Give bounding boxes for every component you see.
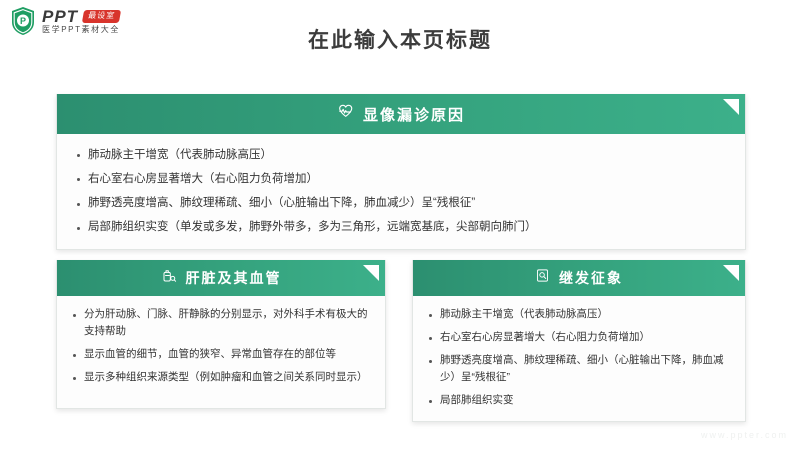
card-liver-and-vessels: 肝脏及其血管 分为肝动脉、门脉、肝静脉的分别显示，对外科手术有极大的支持帮助 显… xyxy=(56,260,386,409)
card-body: 肺动脉主干增宽（代表肺动脉高压） 右心室右心房显著增大（右心阻力负荷增加） 肺野… xyxy=(413,296,745,421)
list-item: 显示血管的细节，血管的狭窄、异常血管存在的部位等 xyxy=(71,346,373,363)
card-header: 继发征象 xyxy=(413,260,745,296)
list-item: 肺动脉主干增宽（代表肺动脉高压） xyxy=(75,146,729,165)
card-imaging-missed-diagnosis: 显像漏诊原因 肺动脉主干增宽（代表肺动脉高压） 右心室右心房显著增大（右心阻力负… xyxy=(56,94,746,250)
watermark: www.ppter.com xyxy=(701,430,788,440)
bullet-list: 分为肝动脉、门脉、肝静脉的分别显示，对外科手术有极大的支持帮助 显示血管的细节，… xyxy=(71,306,373,386)
card-title: 继发征象 xyxy=(559,268,623,288)
heart-pulse-icon xyxy=(337,103,354,125)
list-item: 肺动脉主干增宽（代表肺动脉高压） xyxy=(427,306,733,323)
page-title: 在此输入本页标题 xyxy=(0,24,800,54)
card-secondary-signs: 继发征象 肺动脉主干增宽（代表肺动脉高压） 右心室右心房显著增大（右心阻力负荷增… xyxy=(412,260,746,422)
card-title: 肝脏及其血管 xyxy=(186,268,282,288)
list-item: 肺野透亮度增高、肺纹理稀疏、细小（心脏输出下降，肺血减少）呈“残根征” xyxy=(75,194,729,213)
list-item: 右心室右心房显著增大（右心阻力负荷增加） xyxy=(75,170,729,189)
corner-fold-icon xyxy=(723,99,739,115)
list-item: 显示多种组织来源类型（例如肿瘤和血管之间关系同时显示） xyxy=(71,369,373,386)
corner-fold-icon xyxy=(723,265,739,281)
bullet-list: 肺动脉主干增宽（代表肺动脉高压） 右心室右心房显著增大（右心阻力负荷增加） 肺野… xyxy=(427,306,733,409)
list-item: 肺野透亮度增高、肺纹理稀疏、细小（心脏输出下降，肺血减少）呈“残根征” xyxy=(427,352,733,386)
list-item: 局部肺组织实变 xyxy=(427,392,733,409)
corner-fold-icon xyxy=(363,265,379,281)
brand-name: PPT xyxy=(42,8,78,25)
card-body: 分为肝动脉、门脉、肝静脉的分别显示，对外科手术有极大的支持帮助 显示血管的细节，… xyxy=(57,296,385,408)
card-header: 显像漏诊原因 xyxy=(57,94,745,134)
list-item: 右心室右心房显著增大（右心阻力负荷增加） xyxy=(427,329,733,346)
brand-badge: 最设室 xyxy=(82,10,121,23)
card-body: 肺动脉主干增宽（代表肺动脉高压） 右心室右心房显著增大（右心阻力负荷增加） 肺野… xyxy=(57,134,745,249)
card-header: 肝脏及其血管 xyxy=(57,260,385,296)
list-item: 分为肝动脉、门脉、肝静脉的分别显示，对外科手术有极大的支持帮助 xyxy=(71,306,373,340)
list-item: 局部肺组织实变（单发或多发，肺野外带多，多为三角形，远端宽基底，尖部朝向肺门） xyxy=(75,218,729,237)
card-title: 显像漏诊原因 xyxy=(363,104,465,125)
bullet-list: 肺动脉主干增宽（代表肺动脉高压） 右心室右心房显著增大（右心阻力负荷增加） 肺野… xyxy=(75,146,729,237)
liver-bottle-icon xyxy=(161,268,177,289)
clipboard-search-icon xyxy=(535,268,550,288)
